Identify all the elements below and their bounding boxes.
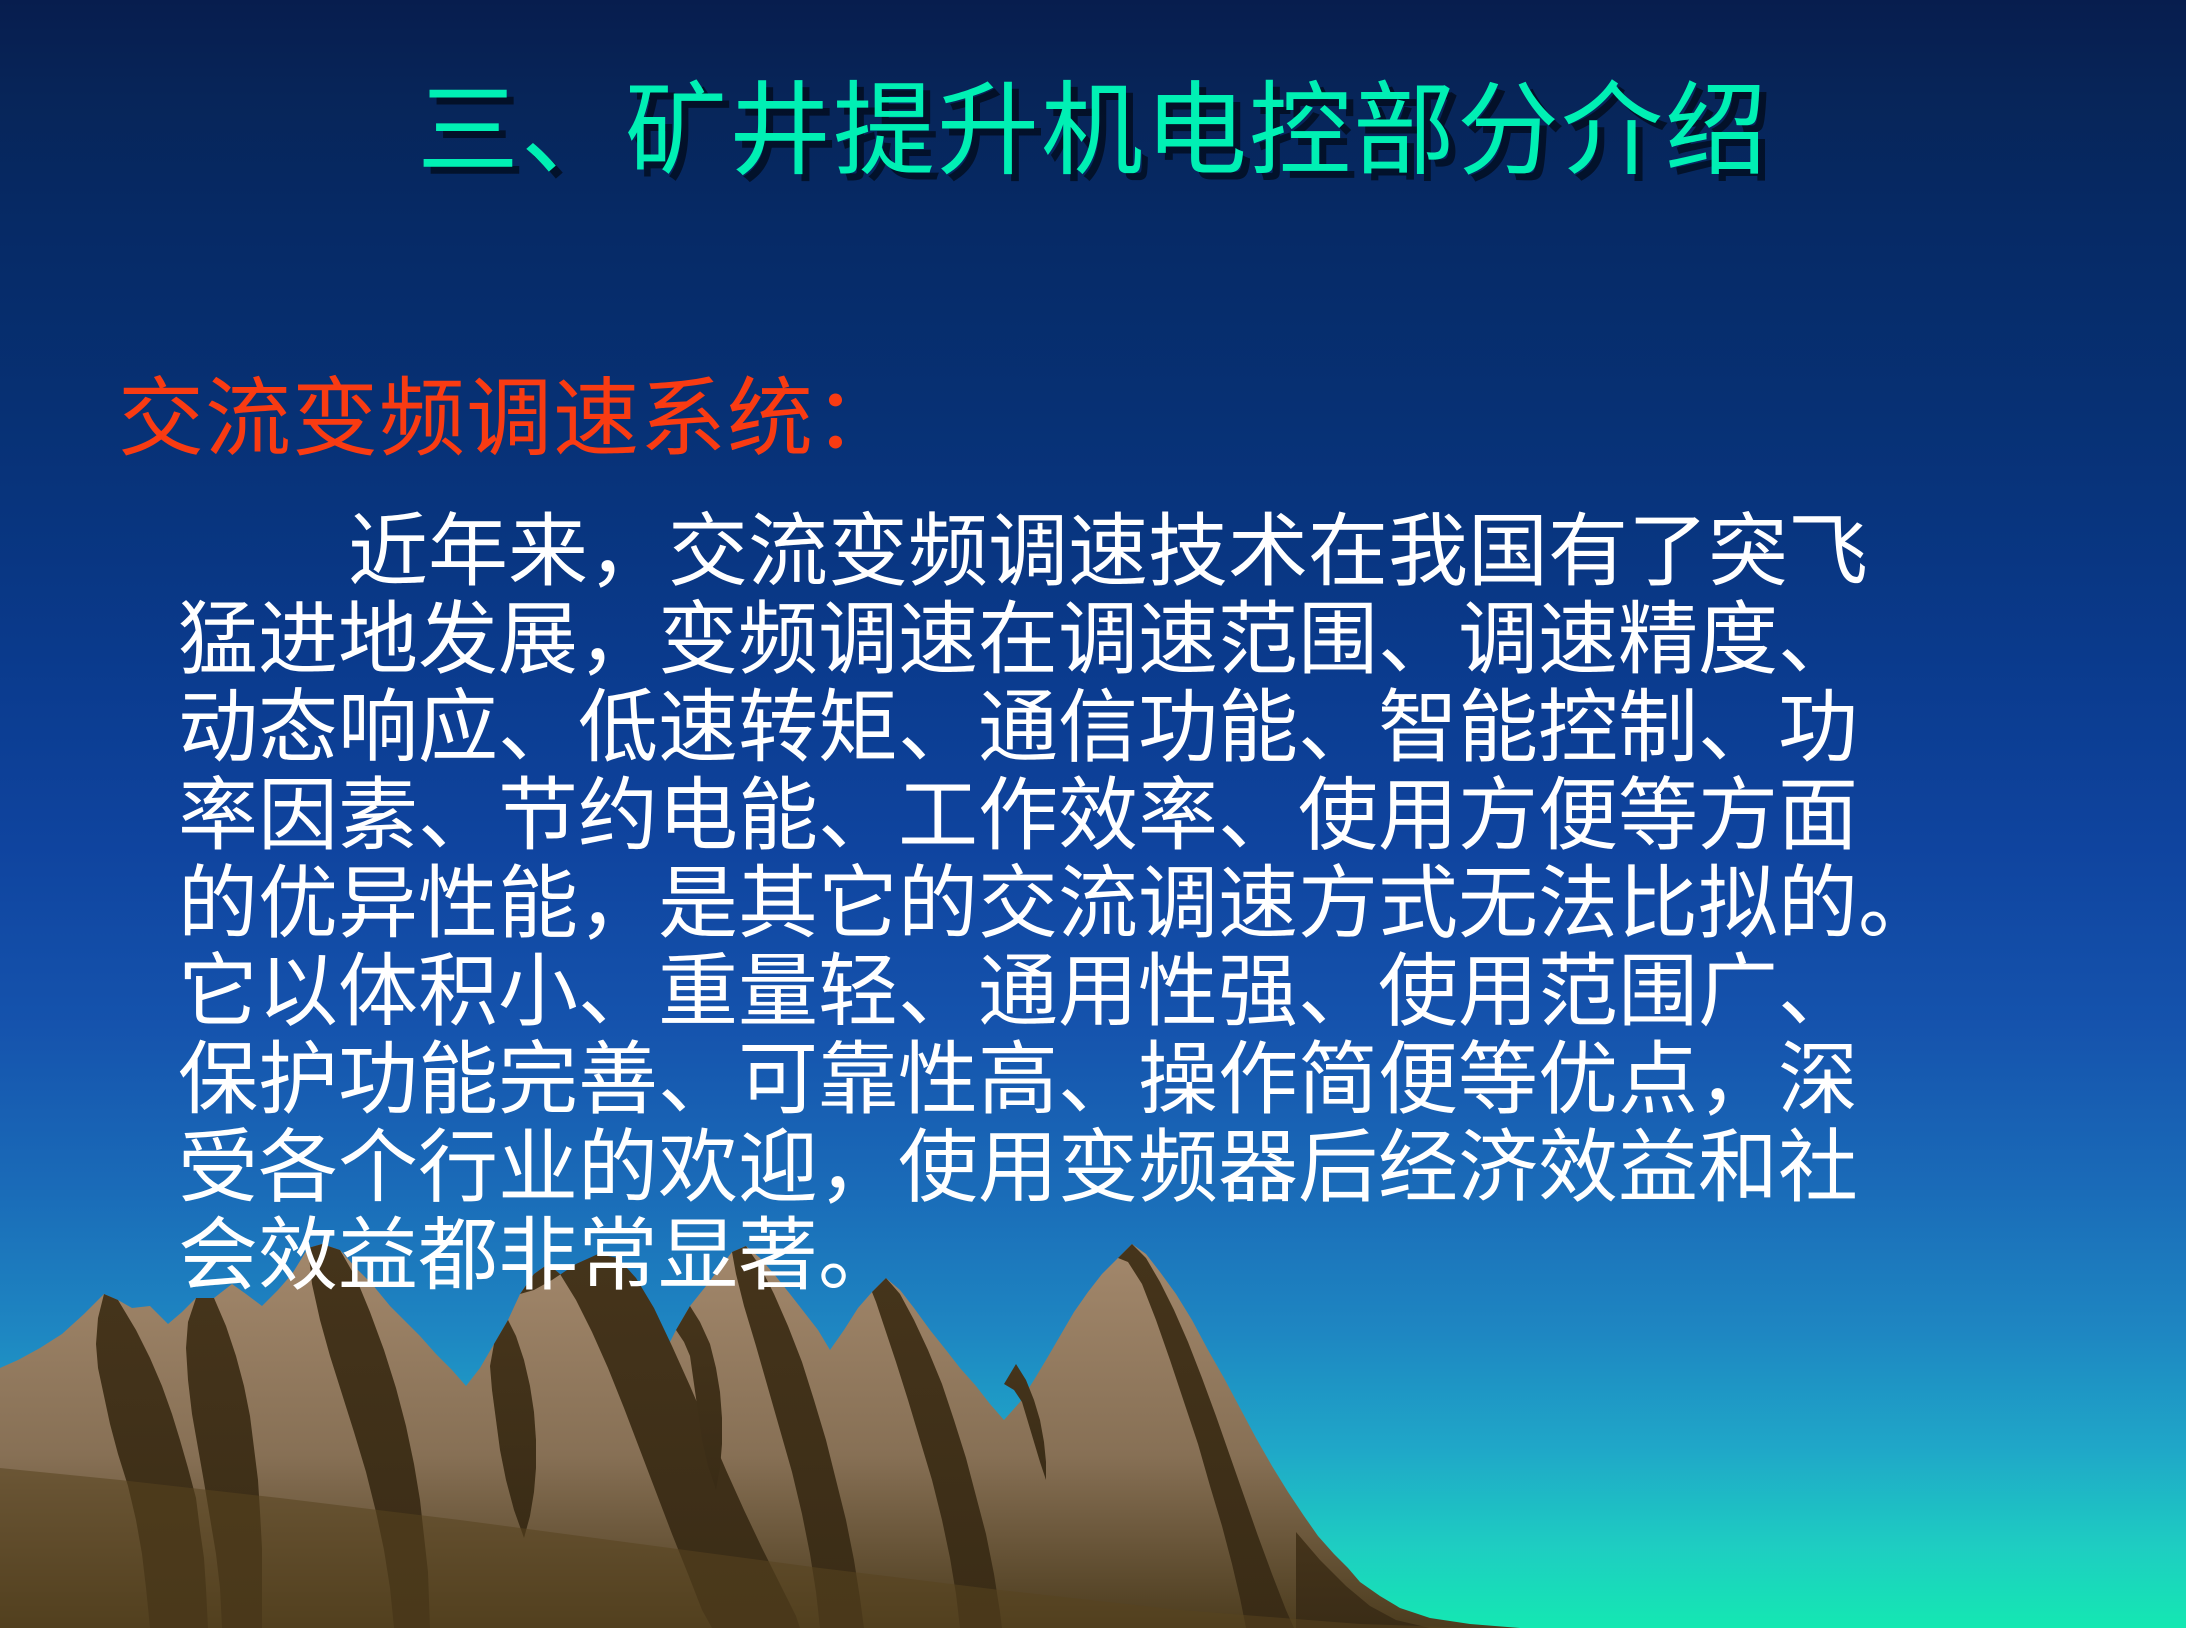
mountain-shadow-face-2	[186, 1298, 262, 1628]
slide-body-text: 近年来，交流变频调速技术在我国有了突飞 猛进地发展，变频调速在调速范围、调速精度…	[178, 508, 2078, 1300]
body-line: 的优异性能，是其它的交流调速方式无法比拟的。	[178, 860, 2078, 948]
body-line: 猛进地发展，变频调速在调速范围、调速精度、	[178, 596, 2078, 684]
body-line: 受各个行业的欢迎，使用变频器后经济效益和社	[178, 1124, 2078, 1212]
mountain-shadow-face-1	[96, 1294, 208, 1628]
body-line: 它以体积小、重量轻、通用性强、使用范围广、	[178, 948, 2078, 1036]
body-line: 保护功能完善、可靠性高、操作简便等优点，深	[178, 1036, 2078, 1124]
mountain-foot-right	[1296, 1532, 1430, 1628]
body-line: 近年来，交流变频调速技术在我国有了突飞	[178, 508, 2078, 596]
mountain-shadow-face-8	[872, 1278, 1002, 1628]
mountain-shadow-face-10	[1118, 1244, 1294, 1628]
mountain-shadow-face-7	[732, 1246, 864, 1628]
body-line: 率因素、节约电能、工作效率、使用方便等方面	[178, 772, 2078, 860]
mountain-shadow-face-9	[1004, 1364, 1046, 1480]
body-line: 动态响应、低速转矩、通信功能、智能控制、功	[178, 684, 2078, 772]
mountain-shadow-face-6	[676, 1306, 722, 1490]
mountain-foreground-base	[0, 1468, 1480, 1628]
mountain-shadow-face-5	[520, 1254, 800, 1628]
section-subheading: 交流变频调速系统：	[118, 372, 901, 467]
slide-title: 三、矿井提升机电控部分介绍	[417, 78, 1769, 185]
presentation-slide: 三、矿井提升机电控部分介绍 交流变频调速系统： 近年来，交流变频调速技术在我国有…	[0, 0, 2186, 1628]
mountain-shadow-face-4	[490, 1320, 536, 1538]
body-line: 会效益都非常显著。	[178, 1212, 2078, 1300]
slide-title-container: 三、矿井提升机电控部分介绍	[0, 78, 2186, 185]
